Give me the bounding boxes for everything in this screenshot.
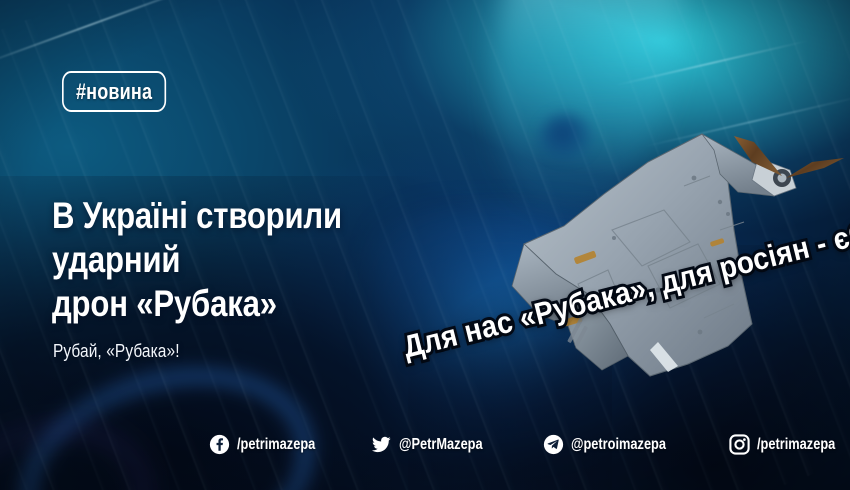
social-handle: @PetrMazepa <box>399 436 501 454</box>
social-handle: @petroimazepa <box>571 436 685 454</box>
subtitle: Рубай, «Рубака»! <box>53 341 180 362</box>
headline-line-2: дрон «Рубака» <box>52 282 447 326</box>
social-link-facebook[interactable]: /petrimazepa <box>209 434 355 455</box>
hashtag-badge[interactable]: #новина <box>62 71 166 112</box>
social-link-telegram[interactable]: @petroimazepa <box>543 434 713 455</box>
social-bar: /petrimazepa @PetrMazepa @petroimazepa /… <box>209 434 850 455</box>
drone-image <box>452 118 850 418</box>
facebook-icon <box>209 434 230 455</box>
social-handle: /petrimazepa <box>237 436 331 454</box>
headline-line-1: В Україні створили ударний <box>52 195 342 280</box>
twitter-icon <box>371 434 392 455</box>
news-card: #новина В Україні створили ударний дрон … <box>0 0 850 490</box>
social-link-instagram[interactable]: /petrimazepa <box>729 434 850 455</box>
telegram-icon <box>543 434 564 455</box>
instagram-icon <box>729 434 750 455</box>
social-handle: /petrimazepa <box>757 436 850 454</box>
social-link-twitter[interactable]: @PetrMazepa <box>371 434 527 455</box>
page-title: В Україні створили ударний дрон «Рубака» <box>52 194 447 326</box>
